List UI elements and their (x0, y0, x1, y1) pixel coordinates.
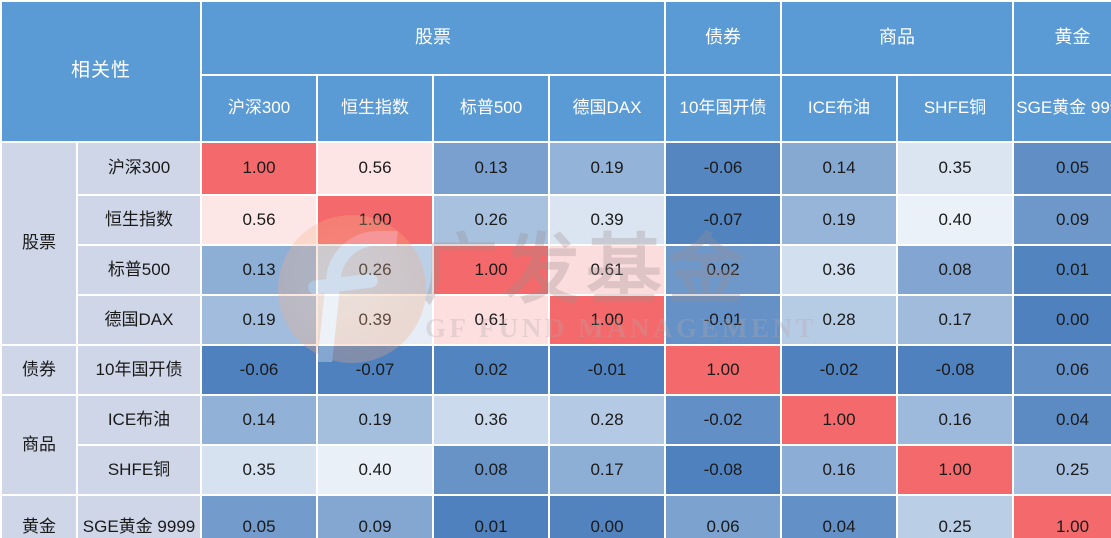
row-header-6[interactable]: SHFE铜 (78, 446, 200, 494)
matrix-cell-6-5: 0.16 (782, 446, 896, 494)
matrix-cell-0-6: 0.35 (898, 143, 1012, 194)
correlation-table: 相关性 股票债券商品黄金 沪深300恒生指数标普500德国DAX10年国开债IC… (0, 0, 1111, 538)
matrix-cell-6-6: 1.00 (898, 446, 1012, 494)
matrix-cell-4-4: 1.00 (666, 346, 780, 394)
column-header-7[interactable]: SGE黄金 9999 (1014, 76, 1111, 141)
matrix-cell-3-2: 0.61 (434, 296, 548, 344)
matrix-cell-7-6: 0.25 (898, 496, 1012, 538)
matrix-cell-1-3: 0.39 (550, 196, 664, 244)
matrix-cell-1-4: -0.07 (666, 196, 780, 244)
matrix-cell-0-0: 1.00 (202, 143, 316, 194)
matrix-cell-2-3: 0.61 (550, 246, 664, 294)
table-row: 商品ICE布油0.140.190.360.28-0.021.000.160.04 (2, 396, 1111, 444)
matrix-cell-7-2: 0.01 (434, 496, 548, 538)
matrix-cell-1-0: 0.56 (202, 196, 316, 244)
matrix-cell-5-6: 0.16 (898, 396, 1012, 444)
column-group-header-0: 股票 (202, 2, 664, 74)
matrix-cell-0-4: -0.06 (666, 143, 780, 194)
matrix-cell-2-2: 1.00 (434, 246, 548, 294)
column-group-header-3: 黄金 (1014, 2, 1111, 74)
matrix-cell-1-5: 0.19 (782, 196, 896, 244)
matrix-cell-5-1: 0.19 (318, 396, 432, 444)
matrix-cell-3-0: 0.19 (202, 296, 316, 344)
column-header-0[interactable]: 沪深300 (202, 76, 316, 141)
matrix-cell-6-4: -0.08 (666, 446, 780, 494)
row-group-header-股票: 股票 (2, 143, 76, 344)
table-row: 恒生指数0.561.000.260.39-0.070.190.400.09 (2, 196, 1111, 244)
matrix-cell-6-2: 0.08 (434, 446, 548, 494)
row-header-7[interactable]: SGE黄金 9999 (78, 496, 200, 538)
matrix-cell-6-3: 0.17 (550, 446, 664, 494)
table-row: SHFE铜0.350.400.080.17-0.080.161.000.25 (2, 446, 1111, 494)
table-row: 德国DAX0.190.390.611.00-0.010.280.170.00 (2, 296, 1111, 344)
matrix-cell-4-5: -0.02 (782, 346, 896, 394)
row-header-3[interactable]: 德国DAX (78, 296, 200, 344)
matrix-cell-0-3: 0.19 (550, 143, 664, 194)
matrix-cell-1-7: 0.09 (1014, 196, 1111, 244)
row-header-2[interactable]: 标普500 (78, 246, 200, 294)
header-group-row: 相关性 股票债券商品黄金 (2, 2, 1111, 74)
matrix-cell-5-5: 1.00 (782, 396, 896, 444)
matrix-cell-7-7: 1.00 (1014, 496, 1111, 538)
matrix-cell-3-3: 1.00 (550, 296, 664, 344)
matrix-cell-2-6: 0.08 (898, 246, 1012, 294)
table-row: 标普5000.130.261.000.610.020.360.080.01 (2, 246, 1111, 294)
matrix-cell-5-0: 0.14 (202, 396, 316, 444)
column-header-5[interactable]: ICE布油 (782, 76, 896, 141)
matrix-cell-7-5: 0.04 (782, 496, 896, 538)
matrix-cell-7-4: 0.06 (666, 496, 780, 538)
matrix-cell-7-0: 0.05 (202, 496, 316, 538)
table-head: 相关性 股票债券商品黄金 沪深300恒生指数标普500德国DAX10年国开债IC… (2, 2, 1111, 141)
matrix-cell-2-7: 0.01 (1014, 246, 1111, 294)
matrix-cell-2-1: 0.26 (318, 246, 432, 294)
matrix-cell-6-7: 0.25 (1014, 446, 1111, 494)
matrix-cell-3-7: 0.00 (1014, 296, 1111, 344)
matrix-cell-0-2: 0.13 (434, 143, 548, 194)
column-group-header-2: 商品 (782, 2, 1012, 74)
matrix-cell-3-5: 0.28 (782, 296, 896, 344)
matrix-cell-2-0: 0.13 (202, 246, 316, 294)
matrix-cell-5-4: -0.02 (666, 396, 780, 444)
matrix-cell-4-1: -0.07 (318, 346, 432, 394)
matrix-cell-7-1: 0.09 (318, 496, 432, 538)
table-row: 黄金SGE黄金 99990.050.090.010.000.060.040.25… (2, 496, 1111, 538)
matrix-cell-4-3: -0.01 (550, 346, 664, 394)
row-header-0[interactable]: 沪深300 (78, 143, 200, 194)
matrix-title-corner: 相关性 (2, 2, 200, 141)
matrix-cell-5-2: 0.36 (434, 396, 548, 444)
column-header-2[interactable]: 标普500 (434, 76, 548, 141)
matrix-cell-0-1: 0.56 (318, 143, 432, 194)
row-header-1[interactable]: 恒生指数 (78, 196, 200, 244)
matrix-cell-1-1: 1.00 (318, 196, 432, 244)
matrix-cell-7-3: 0.00 (550, 496, 664, 538)
matrix-cell-1-6: 0.40 (898, 196, 1012, 244)
matrix-cell-4-7: 0.06 (1014, 346, 1111, 394)
matrix-cell-3-1: 0.39 (318, 296, 432, 344)
matrix-cell-0-5: 0.14 (782, 143, 896, 194)
matrix-cell-1-2: 0.26 (434, 196, 548, 244)
column-header-6[interactable]: SHFE铜 (898, 76, 1012, 141)
table-row: 股票沪深3001.000.560.130.19-0.060.140.350.05 (2, 143, 1111, 194)
row-header-5[interactable]: ICE布油 (78, 396, 200, 444)
matrix-cell-3-6: 0.17 (898, 296, 1012, 344)
column-header-1[interactable]: 恒生指数 (318, 76, 432, 141)
row-group-header-债券: 债券 (2, 346, 76, 394)
matrix-cell-5-3: 0.28 (550, 396, 664, 444)
matrix-cell-4-6: -0.08 (898, 346, 1012, 394)
matrix-cell-2-5: 0.36 (782, 246, 896, 294)
matrix-cell-6-1: 0.40 (318, 446, 432, 494)
matrix-cell-6-0: 0.35 (202, 446, 316, 494)
correlation-matrix-root: 相关性 股票债券商品黄金 沪深300恒生指数标普500德国DAX10年国开债IC… (0, 0, 1111, 538)
table-row: 债券10年国开债-0.06-0.070.02-0.011.00-0.02-0.0… (2, 346, 1111, 394)
matrix-cell-2-4: 0.02 (666, 246, 780, 294)
row-group-header-商品: 商品 (2, 396, 76, 494)
matrix-cell-5-7: 0.04 (1014, 396, 1111, 444)
matrix-cell-3-4: -0.01 (666, 296, 780, 344)
column-group-header-1: 债券 (666, 2, 780, 74)
column-header-4[interactable]: 10年国开债 (666, 76, 780, 141)
matrix-cell-0-7: 0.05 (1014, 143, 1111, 194)
table-body: 股票沪深3001.000.560.130.19-0.060.140.350.05… (2, 143, 1111, 538)
matrix-cell-4-2: 0.02 (434, 346, 548, 394)
matrix-cell-4-0: -0.06 (202, 346, 316, 394)
row-header-4[interactable]: 10年国开债 (78, 346, 200, 394)
column-header-3[interactable]: 德国DAX (550, 76, 664, 141)
row-group-header-黄金: 黄金 (2, 496, 76, 538)
